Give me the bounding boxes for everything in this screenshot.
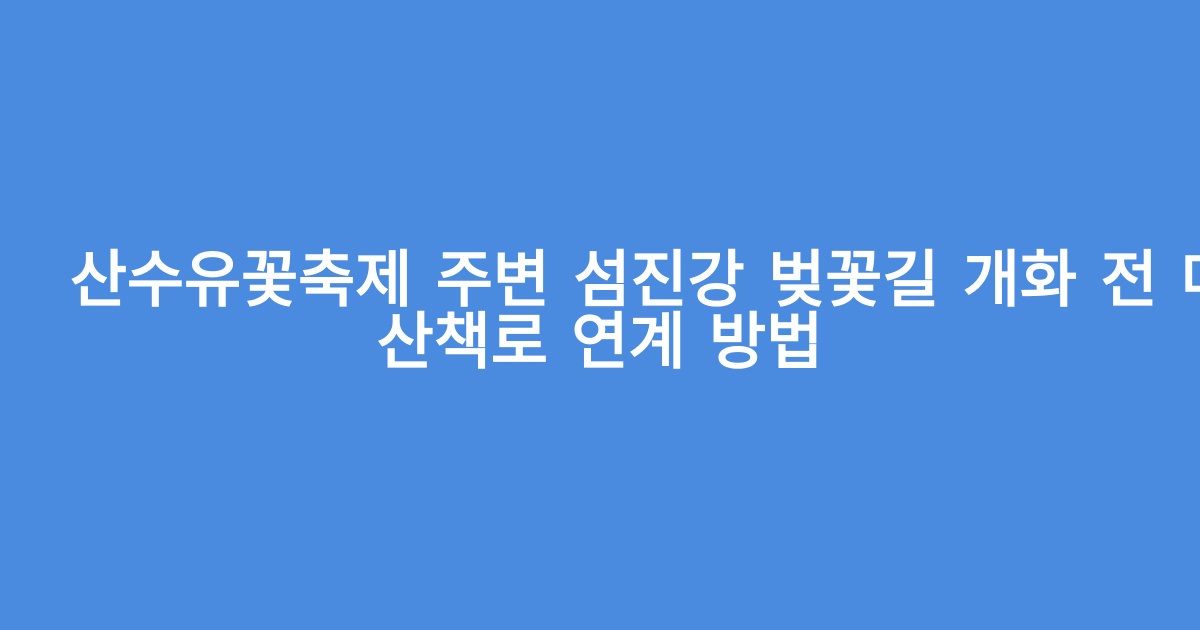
title-line-1: 산수유꽃축제 주변 섬진강 벚꽃길 개화 전 매화 bbox=[70, 249, 1130, 311]
page-title: 산수유꽃축제 주변 섬진강 벚꽃길 개화 전 매화 산책로 연계 방법 bbox=[70, 249, 1130, 373]
og-share-card: 산수유꽃축제 주변 섬진강 벚꽃길 개화 전 매화 산책로 연계 방법 bbox=[0, 0, 1200, 630]
title-line-2: 산책로 연계 방법 bbox=[70, 311, 1130, 373]
